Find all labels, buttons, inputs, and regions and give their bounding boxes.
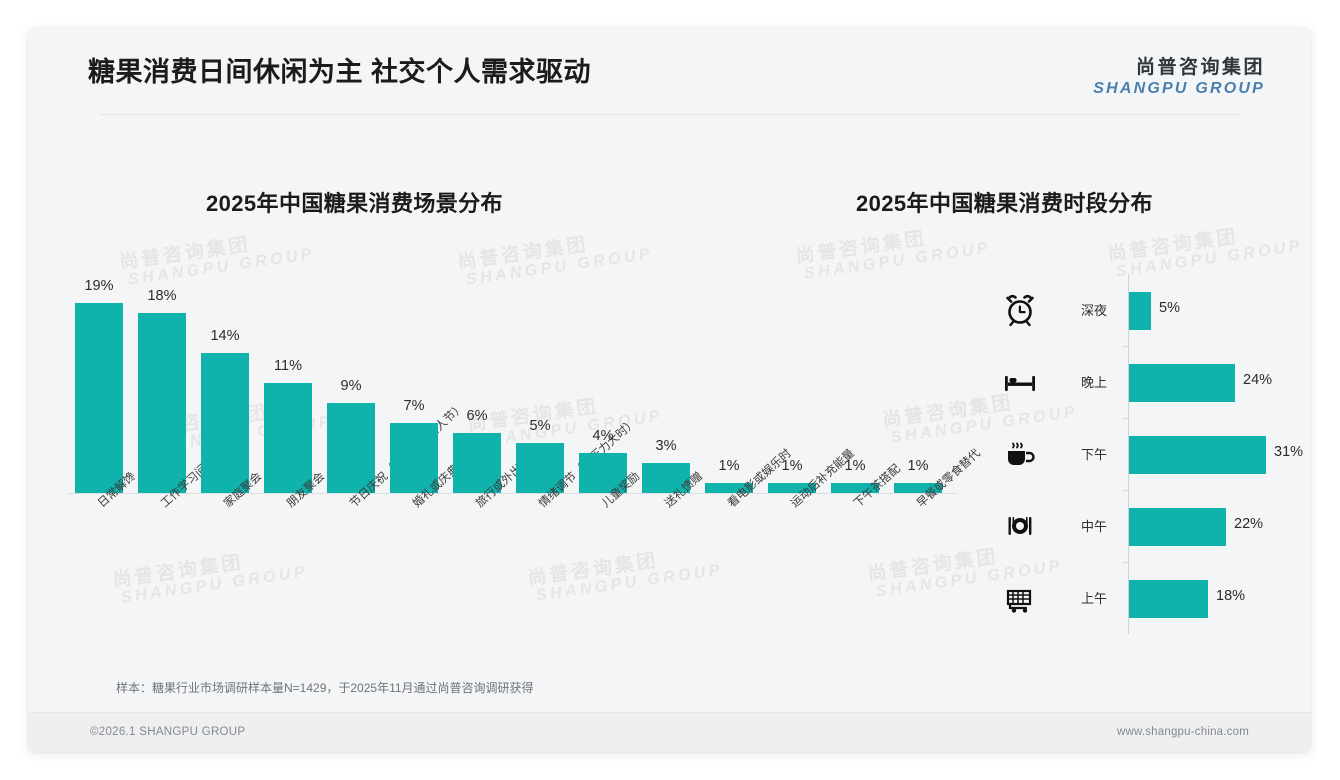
bar[interactable] [1129,364,1235,402]
bar-value-label: 1% [824,458,886,474]
bar-slot: 1% 早餐或零食替代 [887,263,949,493]
bar-value-label: 9% [320,378,382,394]
row-category-label: 晚上 [1068,372,1120,391]
chart-panel-time-distribution: 2025年中国糖果消费时段分布 [948,124,1311,664]
row-category-label: 下午 [1068,444,1120,463]
bar-slot: 1% 运动后补充能量 [761,263,823,493]
chart-baseline [68,493,958,494]
slide-header: 糖果消费日间休闲为主 社交个人需求驱动 尚普咨询集团 SHANGPU GROUP [28,28,1311,114]
bar-slot: 5% 情绪调节（如压力大时） [509,263,571,493]
bar[interactable] [264,383,312,493]
bar-value-label: 5% [509,418,571,434]
row-category-label: 中午 [1068,516,1120,535]
bar-slot: 19% 日常解馋 [68,263,130,493]
header-divider [100,114,1240,115]
bar-value-label: 31% [1274,444,1303,460]
footer-website[interactable]: www.shangpu-china.com [1117,726,1249,738]
coffee-cup-icon [1000,434,1040,474]
bar-value-label: 1% [761,458,823,474]
bar-value-label: 18% [1216,588,1245,604]
bar-slot: 6% 旅行或外出携带 [446,263,508,493]
bar-slot: 4% 儿童奖励 [572,263,634,493]
chart-row: 中午 22% [968,490,1298,562]
bar-value-label: 6% [446,408,508,424]
bar-slot: 3% 送礼馈赠 [635,263,697,493]
chart-panel-scene-distribution: 2025年中国糖果消费场景分布 19% 日常解馋 18% 工作学习间隙 14% … [28,124,958,664]
chart-row: 晚上 24% [968,346,1298,418]
bar[interactable] [138,313,186,493]
bar[interactable] [75,303,123,493]
chart-title-time: 2025年中国糖果消费时段分布 [856,186,1153,218]
bar-value-label: 22% [1234,516,1263,532]
bar-value-label: 24% [1243,372,1272,388]
bar[interactable] [1129,436,1266,474]
bar-value-label: 18% [131,288,193,304]
bar-slot: 1% 看电影或娱乐时 [698,263,760,493]
bar[interactable] [1129,580,1208,618]
bar-value-label: 7% [383,398,445,414]
bar-slot: 7% 婚礼或庆典 [383,263,445,493]
bed-icon [1000,362,1040,402]
alarm-clock-icon [1000,290,1040,330]
chart-title-scene: 2025年中国糖果消费场景分布 [206,186,503,218]
bar-slot: 14% 家庭聚会 [194,263,256,493]
bar-slot: 1% 下午茶搭配 [824,263,886,493]
row-category-label: 上午 [1068,588,1120,607]
brand-logo-en: SHANGPU GROUP [1093,80,1265,98]
bar-value-label: 3% [635,438,697,454]
plate-cutlery-icon [1000,506,1040,546]
horizontal-bar-chart: 深夜 5% 晚上 24% [968,274,1298,634]
source-footnote: 样本：糖果行业市场调研样本量N=1429，于2025年11月通过尚普咨询调研获得 [116,679,534,696]
bar-value-label: 14% [194,328,256,344]
bar-value-label: 5% [1159,300,1180,316]
bar[interactable] [1129,508,1226,546]
slide-footer: ©2026.1 SHANGPU GROUP www.shangpu-china.… [28,712,1311,752]
vertical-bar-chart: 19% 日常解馋 18% 工作学习间隙 14% 家庭聚会 11% 朋友聚会 9% [68,264,958,494]
chart-row: 上午 18% [968,562,1298,634]
bar-slot: 9% 节日庆祝（如春节、情人节） [320,263,382,493]
shopping-cart-icon [1000,578,1040,618]
row-category-label: 深夜 [1068,300,1120,319]
bar-value-label: 11% [257,358,319,374]
page-title: 糖果消费日间休闲为主 社交个人需求驱动 [88,50,591,89]
bar-value-label: 1% [887,458,949,474]
bar-value-label: 19% [68,278,130,294]
bar-value-label: 4% [572,428,634,444]
bar[interactable] [1129,292,1151,330]
chart-row: 深夜 5% [968,274,1298,346]
footer-copyright: ©2026.1 SHANGPU GROUP [90,726,245,738]
brand-logo: 尚普咨询集团 SHANGPU GROUP [1093,52,1265,98]
bar-slot: 18% 工作学习间隙 [131,263,193,493]
chart-row: 下午 31% [968,418,1298,490]
bar-value-label: 1% [698,458,760,474]
bar-slot: 11% 朋友聚会 [257,263,319,493]
slide-card: 尚普咨询集团 SHANGPU GROUP 尚普咨询集团 SHANGPU GROU… [28,28,1311,752]
bar[interactable] [201,353,249,493]
brand-logo-cn: 尚普咨询集团 [1093,52,1265,79]
